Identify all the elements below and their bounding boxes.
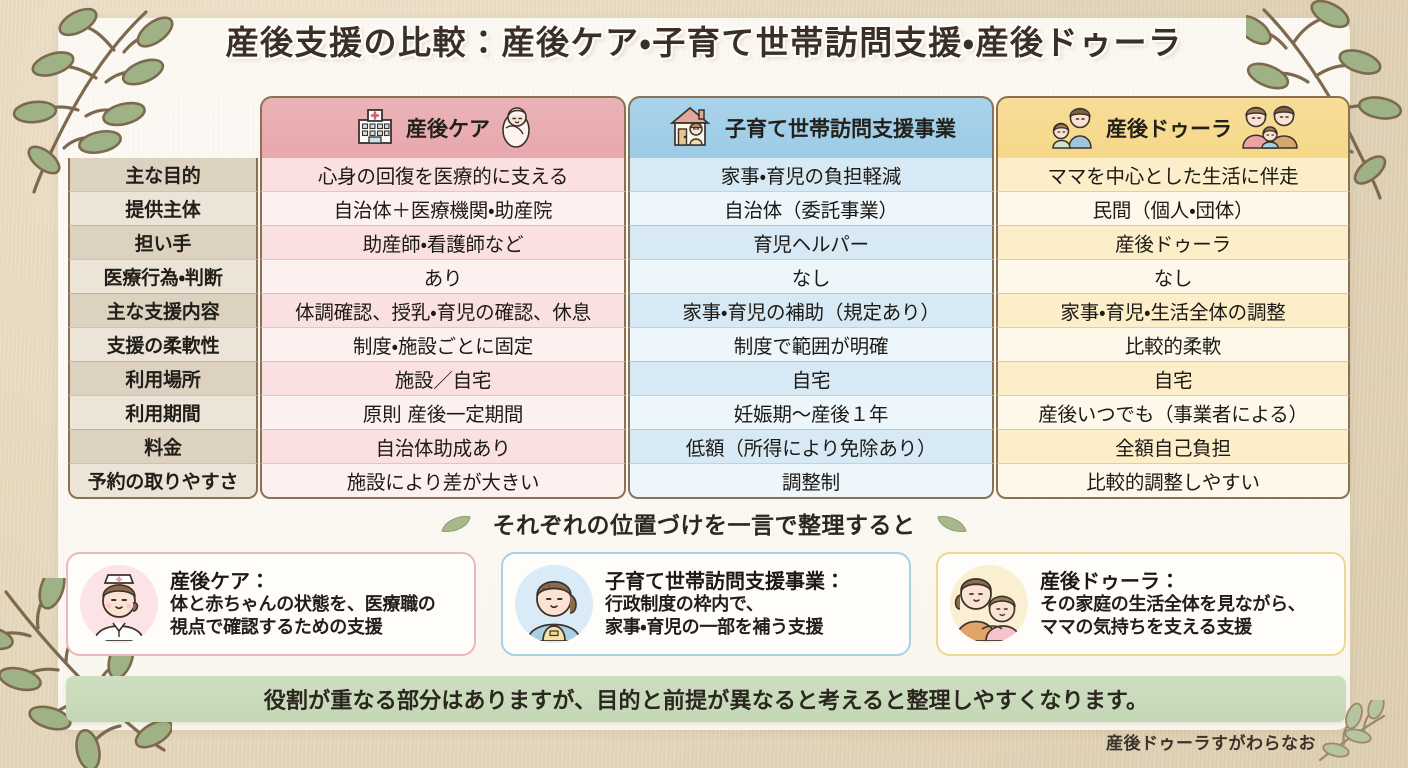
summary-text-visit: 子育て世帯訪問支援事業： 行政制度の枠内で、 家事・育児の一部を補う支援	[605, 569, 845, 640]
cell-care: 制度・施設ごとに固定	[260, 327, 626, 361]
row-label-cell: 利用場所	[68, 361, 258, 395]
summary-title-care: 産後ケア：	[170, 569, 436, 594]
cell-care: 自治体助成あり	[260, 429, 626, 463]
row-label-cell: 支援の柔軟性	[68, 327, 258, 361]
row-label-cell: 主な目的	[68, 158, 258, 191]
row-label-cell: 予約の取りやすさ	[68, 463, 258, 499]
table-row: 利用場所施設／自宅自宅自宅	[68, 361, 1350, 395]
cell-care: 自治体＋医療機関・助産院	[260, 191, 626, 225]
table-row: 料金自治体助成あり低額（所得により免除あり）全額自己負担	[68, 429, 1350, 463]
cell-visit: 育児ヘルパー	[628, 225, 994, 259]
row-label-cell: 利用期間	[68, 395, 258, 429]
header-cell-doula: 産後ドゥーラ	[996, 92, 1350, 158]
cell-doula: 産後ドゥーラ	[996, 225, 1350, 259]
summary-line1-care: 体と赤ちゃんの状態を、医療職の	[170, 594, 436, 617]
cell-doula: 産後いつでも（事業者による）	[996, 395, 1350, 429]
summary-line2-care: 視点で確認するための支援	[170, 617, 436, 640]
footer-banner-text: 役割が重なる部分はありますが、目的と前提が異なると考えると整理しやすくなります。	[264, 683, 1148, 715]
leaf-right-icon	[936, 513, 968, 541]
header-cell-visit: 子育て世帯訪問支援事業	[628, 92, 994, 158]
leaf-left-icon	[440, 513, 472, 541]
cell-visit: 家事・育児の負担軽減	[628, 158, 994, 191]
cell-visit: 制度で範囲が明確	[628, 327, 994, 361]
cell-visit: 低額（所得により免除あり）	[628, 429, 994, 463]
credit-text: 産後ドゥーラすがわらなお	[1106, 729, 1316, 754]
title-bar: 産後支援の比較：産後ケア・子育て世帯訪問支援・産後ドゥーラ	[0, 16, 1408, 64]
cell-doula: 民間（個人・団体）	[996, 191, 1350, 225]
footer-banner: 役割が重なる部分はありますが、目的と前提が異なると考えると整理しやすくなります。	[66, 676, 1346, 722]
cell-visit: 自治体（委託事業）	[628, 191, 994, 225]
row-label-cell: 提供主体	[68, 191, 258, 225]
table-row: 医療行為・判断ありなしなし	[68, 259, 1350, 293]
header-label-visit: 子育て世帯訪問支援事業	[725, 113, 956, 143]
cell-visit: 調整制	[628, 463, 994, 499]
cell-visit: なし	[628, 259, 994, 293]
cell-care: 原則 産後一定期間	[260, 395, 626, 429]
cell-doula: 自宅	[996, 361, 1350, 395]
family-icon	[1241, 102, 1299, 155]
header-cell-care: 産後ケア	[260, 92, 626, 158]
mid-caption-text: それぞれの位置づけを一言で整理すると	[493, 513, 916, 539]
cell-care: 助産師・看護師など	[260, 225, 626, 259]
mother-child-avatar	[950, 565, 1028, 643]
table-row: 利用期間原則 産後一定期間妊娠期〜産後１年産後いつでも（事業者による）	[68, 395, 1350, 429]
row-label-cell: 担い手	[68, 225, 258, 259]
cell-visit: 自宅	[628, 361, 994, 395]
hospital-icon	[353, 106, 397, 151]
cell-doula: なし	[996, 259, 1350, 293]
summary-line1-doula: その家庭の生活全体を見ながら、	[1040, 594, 1306, 617]
header-label-doula: 産後ドゥーラ	[1106, 113, 1232, 143]
row-label-cell: 医療行為・判断	[68, 259, 258, 293]
cell-visit: 家事・育児の補助（規定あり）	[628, 293, 994, 327]
house-helper-icon	[666, 103, 716, 154]
nurse-avatar	[80, 565, 158, 643]
table-row: 支援の柔軟性制度・施設ごとに固定制度で範囲が明確比較的柔軟	[68, 327, 1350, 361]
table-row: 担い手助産師・看護師など育児ヘルパー産後ドゥーラ	[68, 225, 1350, 259]
header-label-care: 産後ケア	[406, 113, 490, 143]
cell-doula: 比較的柔軟	[996, 327, 1350, 361]
summary-card-doula[interactable]: 産後ドゥーラ： その家庭の生活全体を見ながら、 ママの気持ちを支える支援	[936, 552, 1346, 656]
row-label-cell: 料金	[68, 429, 258, 463]
cell-doula: 家事・育児・生活全体の調整	[996, 293, 1350, 327]
table-row: 主な目的心身の回復を医療的に支える家事・育児の負担軽減ママを中心とした生活に伴走	[68, 158, 1350, 191]
cell-care: 施設／自宅	[260, 361, 626, 395]
mother-baby-icon	[1047, 102, 1097, 155]
cell-care: 体調確認、授乳・育児の確認、休息	[260, 293, 626, 327]
cell-care: あり	[260, 259, 626, 293]
cell-care: 施設により差が大きい	[260, 463, 626, 499]
cell-doula: ママを中心とした生活に伴走	[996, 158, 1350, 191]
summary-title-doula: 産後ドゥーラ：	[1040, 569, 1306, 594]
cell-doula: 全額自己負担	[996, 429, 1350, 463]
summary-line2-doula: ママの気持ちを支える支援	[1040, 617, 1306, 640]
row-label-cell: 主な支援内容	[68, 293, 258, 327]
page-title: 産後支援の比較：産後ケア・子育て世帯訪問支援・産後ドゥーラ	[226, 16, 1183, 64]
summary-card-visit[interactable]: 子育て世帯訪問支援事業： 行政制度の枠内で、 家事・育児の一部を補う支援	[501, 552, 911, 656]
table-body: 主な目的心身の回復を医療的に支える家事・育児の負担軽減ママを中心とした生活に伴走…	[68, 158, 1350, 499]
table-row: 主な支援内容体調確認、授乳・育児の確認、休息家事・育児の補助（規定あり）家事・育…	[68, 293, 1350, 327]
mid-caption: それぞれの位置づけを一言で整理すると	[0, 506, 1408, 541]
comparison-table: 産後ケア	[66, 92, 1352, 499]
comparison-table-wrap: 産後ケア	[66, 92, 1344, 499]
summary-title-visit: 子育て世帯訪問支援事業：	[605, 569, 845, 594]
cell-visit: 妊娠期〜産後１年	[628, 395, 994, 429]
corner-cell	[68, 92, 258, 158]
summary-line1-visit: 行政制度の枠内で、	[605, 594, 845, 617]
table-row: 提供主体自治体＋医療機関・助産院自治体（委託事業）民間（個人・団体）	[68, 191, 1350, 225]
table-row: 予約の取りやすさ施設により差が大きい調整制比較的調整しやすい	[68, 463, 1350, 499]
summary-card-list: 産後ケア： 体と赤ちゃんの状態を、医療職の 視点で確認するための支援	[66, 552, 1346, 656]
summary-text-doula: 産後ドゥーラ： その家庭の生活全体を見ながら、 ママの気持ちを支える支援	[1040, 569, 1306, 640]
infographic-page: 産後支援の比較：産後ケア・子育て世帯訪問支援・産後ドゥーラ	[0, 0, 1408, 768]
summary-text-care: 産後ケア： 体と赤ちゃんの状態を、医療職の 視点で確認するための支援	[170, 569, 436, 640]
summary-card-care[interactable]: 産後ケア： 体と赤ちゃんの状態を、医療職の 視点で確認するための支援	[66, 552, 476, 656]
cell-doula: 比較的調整しやすい	[996, 463, 1350, 499]
table-head: 産後ケア	[68, 92, 1350, 158]
table-header-row: 産後ケア	[68, 92, 1350, 158]
helper-avatar	[515, 565, 593, 643]
summary-line2-visit: 家事・育児の一部を補う支援	[605, 617, 845, 640]
swaddled-baby-icon	[499, 104, 533, 153]
cell-care: 心身の回復を医療的に支える	[260, 158, 626, 191]
